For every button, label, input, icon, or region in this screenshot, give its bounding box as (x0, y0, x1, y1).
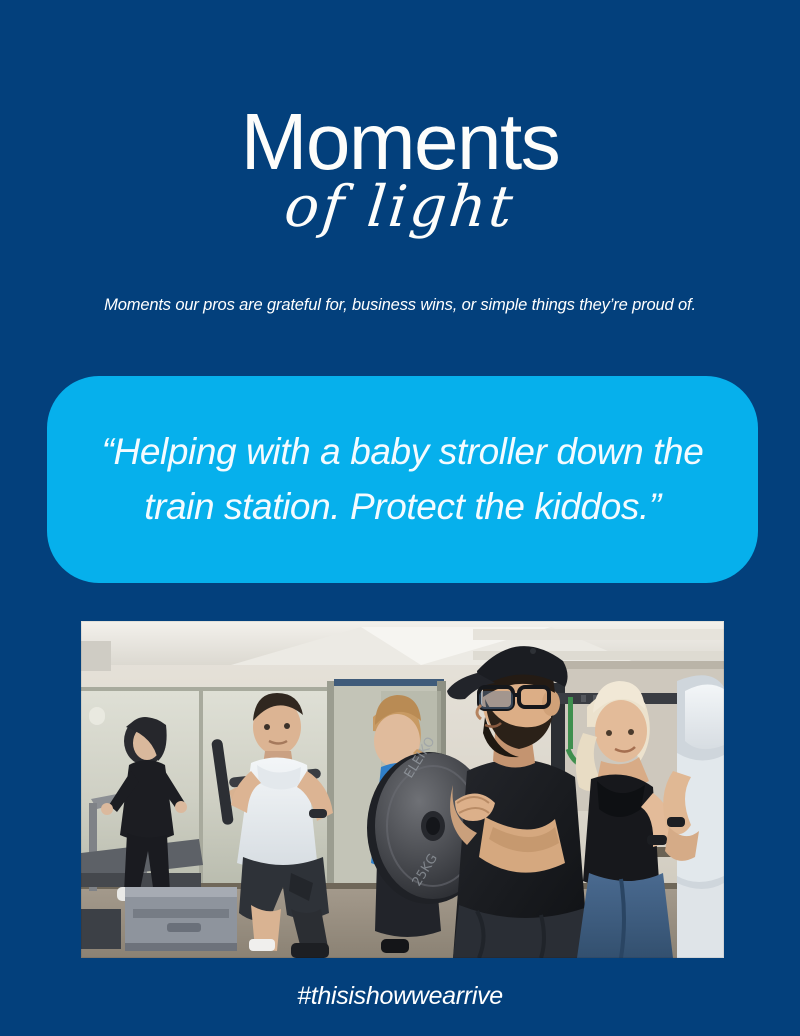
title-block: Moments of light (0, 104, 800, 238)
quote-card: “Helping with a baby stroller down the t… (47, 376, 758, 583)
page-title: Moments (0, 104, 800, 180)
quote-text: “Helping with a baby stroller down the t… (73, 425, 732, 534)
tagline-text: Moments our pros are grateful for, busin… (0, 296, 800, 315)
gym-photo-illustration: ELEIKO 25KG (81, 621, 724, 958)
page-subtitle-script: of light (0, 178, 800, 238)
gym-photo: ELEIKO 25KG (81, 621, 724, 958)
hashtag-text: #thisishowwearrive (0, 982, 800, 1011)
poster-canvas: Moments of light Moments our pros are gr… (0, 0, 800, 1036)
